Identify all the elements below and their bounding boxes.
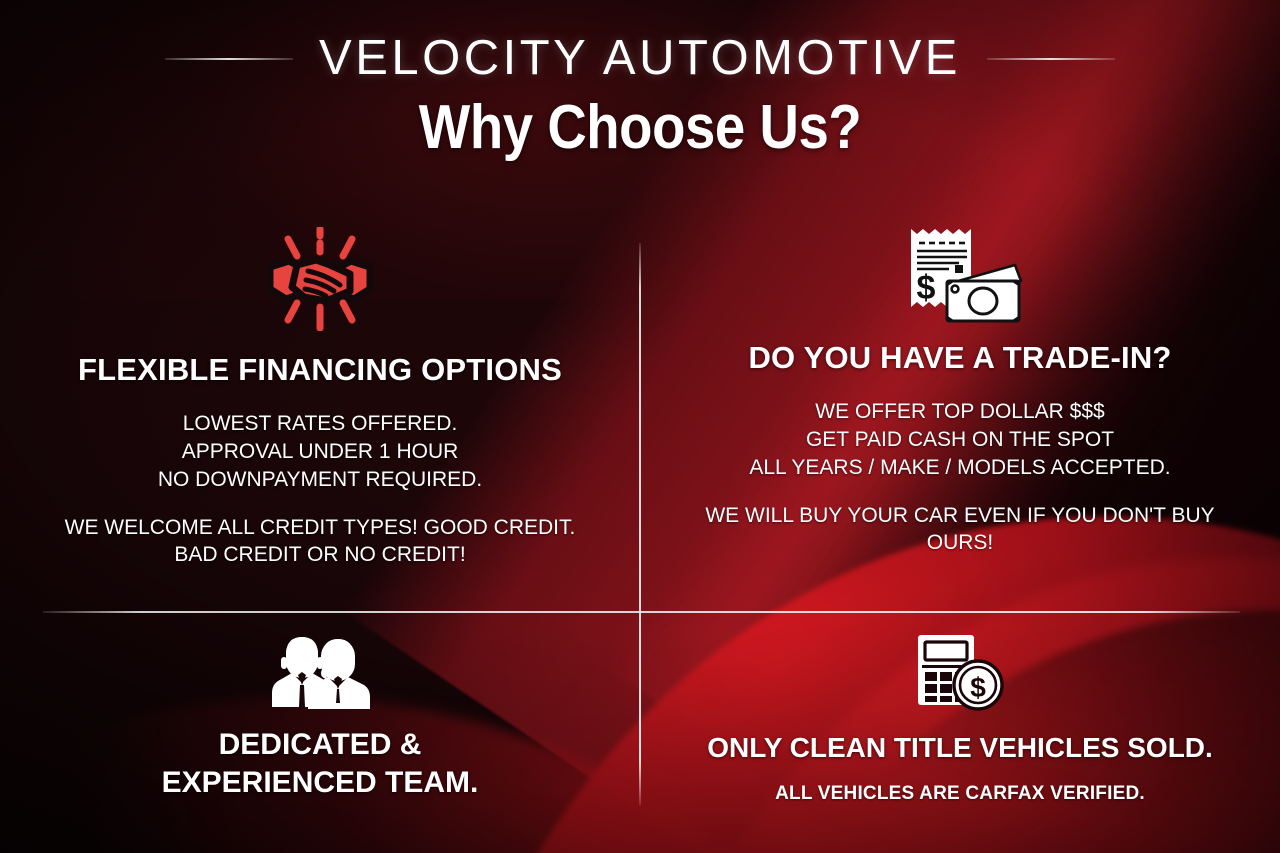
feature-financing: FLEXIBLE FINANCING OPTIONS LOWEST RATES … xyxy=(0,215,640,611)
feature-body-line: WE WELCOME ALL CREDIT TYPES! GOOD CREDIT… xyxy=(65,516,576,539)
feature-body-line: NO DOWNPAYMENT REQUIRED. xyxy=(158,468,482,491)
feature-trade-in: $ DO YOU HAVE A TRADE-IN? xyxy=(640,215,1280,611)
feature-subtitle: ALL VEHICLES ARE CARFAX VERIFIED. xyxy=(775,781,1145,806)
feature-title: ONLY CLEAN TITLE VEHICLES SOLD. xyxy=(707,733,1213,763)
feature-body-line: ALL YEARS / MAKE / MODELS ACCEPTED. xyxy=(749,456,1170,479)
business-team-icon xyxy=(268,629,372,711)
feature-body-line: LOWEST RATES OFFERED. xyxy=(183,412,458,435)
svg-text:$: $ xyxy=(917,269,936,307)
brand-rule-left xyxy=(165,58,293,60)
poster-header: VELOCITY AUTOMOTIVE Why Choose Us? xyxy=(0,34,1280,160)
feature-body-line: APPROVAL UNDER 1 HOUR xyxy=(182,440,459,463)
feature-team: DEDICATED & EXPERIENCED TEAM. xyxy=(0,611,640,853)
brand-row: VELOCITY AUTOMOTIVE xyxy=(0,34,1280,83)
feature-body: LOWEST RATES OFFERED. APPROVAL UNDER 1 H… xyxy=(65,410,576,569)
body-spacer xyxy=(705,482,1214,502)
feature-clean-title: $ ONLY CLEAN TITLE VEHICLES SOLD. ALL VE… xyxy=(640,611,1280,853)
feature-body-line: BAD CREDIT OR NO CREDIT! xyxy=(174,543,465,566)
feature-title-line: DEDICATED & xyxy=(162,729,479,761)
svg-text:$: $ xyxy=(970,672,986,703)
feature-grid: FLEXIBLE FINANCING OPTIONS LOWEST RATES … xyxy=(0,215,1280,853)
receipt-cash-icon: $ xyxy=(897,223,1023,323)
feature-body: WE OFFER TOP DOLLAR $$$ GET PAID CASH ON… xyxy=(705,398,1214,557)
why-choose-us-poster: VELOCITY AUTOMOTIVE Why Choose Us? xyxy=(0,0,1280,853)
feature-title: DO YOU HAVE A TRADE-IN? xyxy=(748,341,1171,374)
calculator-dollar-icon: $ xyxy=(914,631,1006,713)
feature-body-line: OURS! xyxy=(927,531,994,554)
body-spacer xyxy=(65,494,576,514)
handshake-icon xyxy=(264,227,376,331)
brand-name: VELOCITY AUTOMOTIVE xyxy=(319,34,961,83)
feature-title: DEDICATED & EXPERIENCED TEAM. xyxy=(162,729,479,800)
feature-title-line: EXPERIENCED TEAM. xyxy=(162,767,479,799)
brand-rule-right xyxy=(987,58,1115,60)
feature-body-line: GET PAID CASH ON THE SPOT xyxy=(806,428,1114,451)
feature-body-line: WE OFFER TOP DOLLAR $$$ xyxy=(815,400,1104,423)
page-title: Why Choose Us? xyxy=(77,95,1203,160)
feature-body-line: WE WILL BUY YOUR CAR EVEN IF YOU DON'T B… xyxy=(705,504,1214,527)
feature-title: FLEXIBLE FINANCING OPTIONS xyxy=(78,353,562,386)
